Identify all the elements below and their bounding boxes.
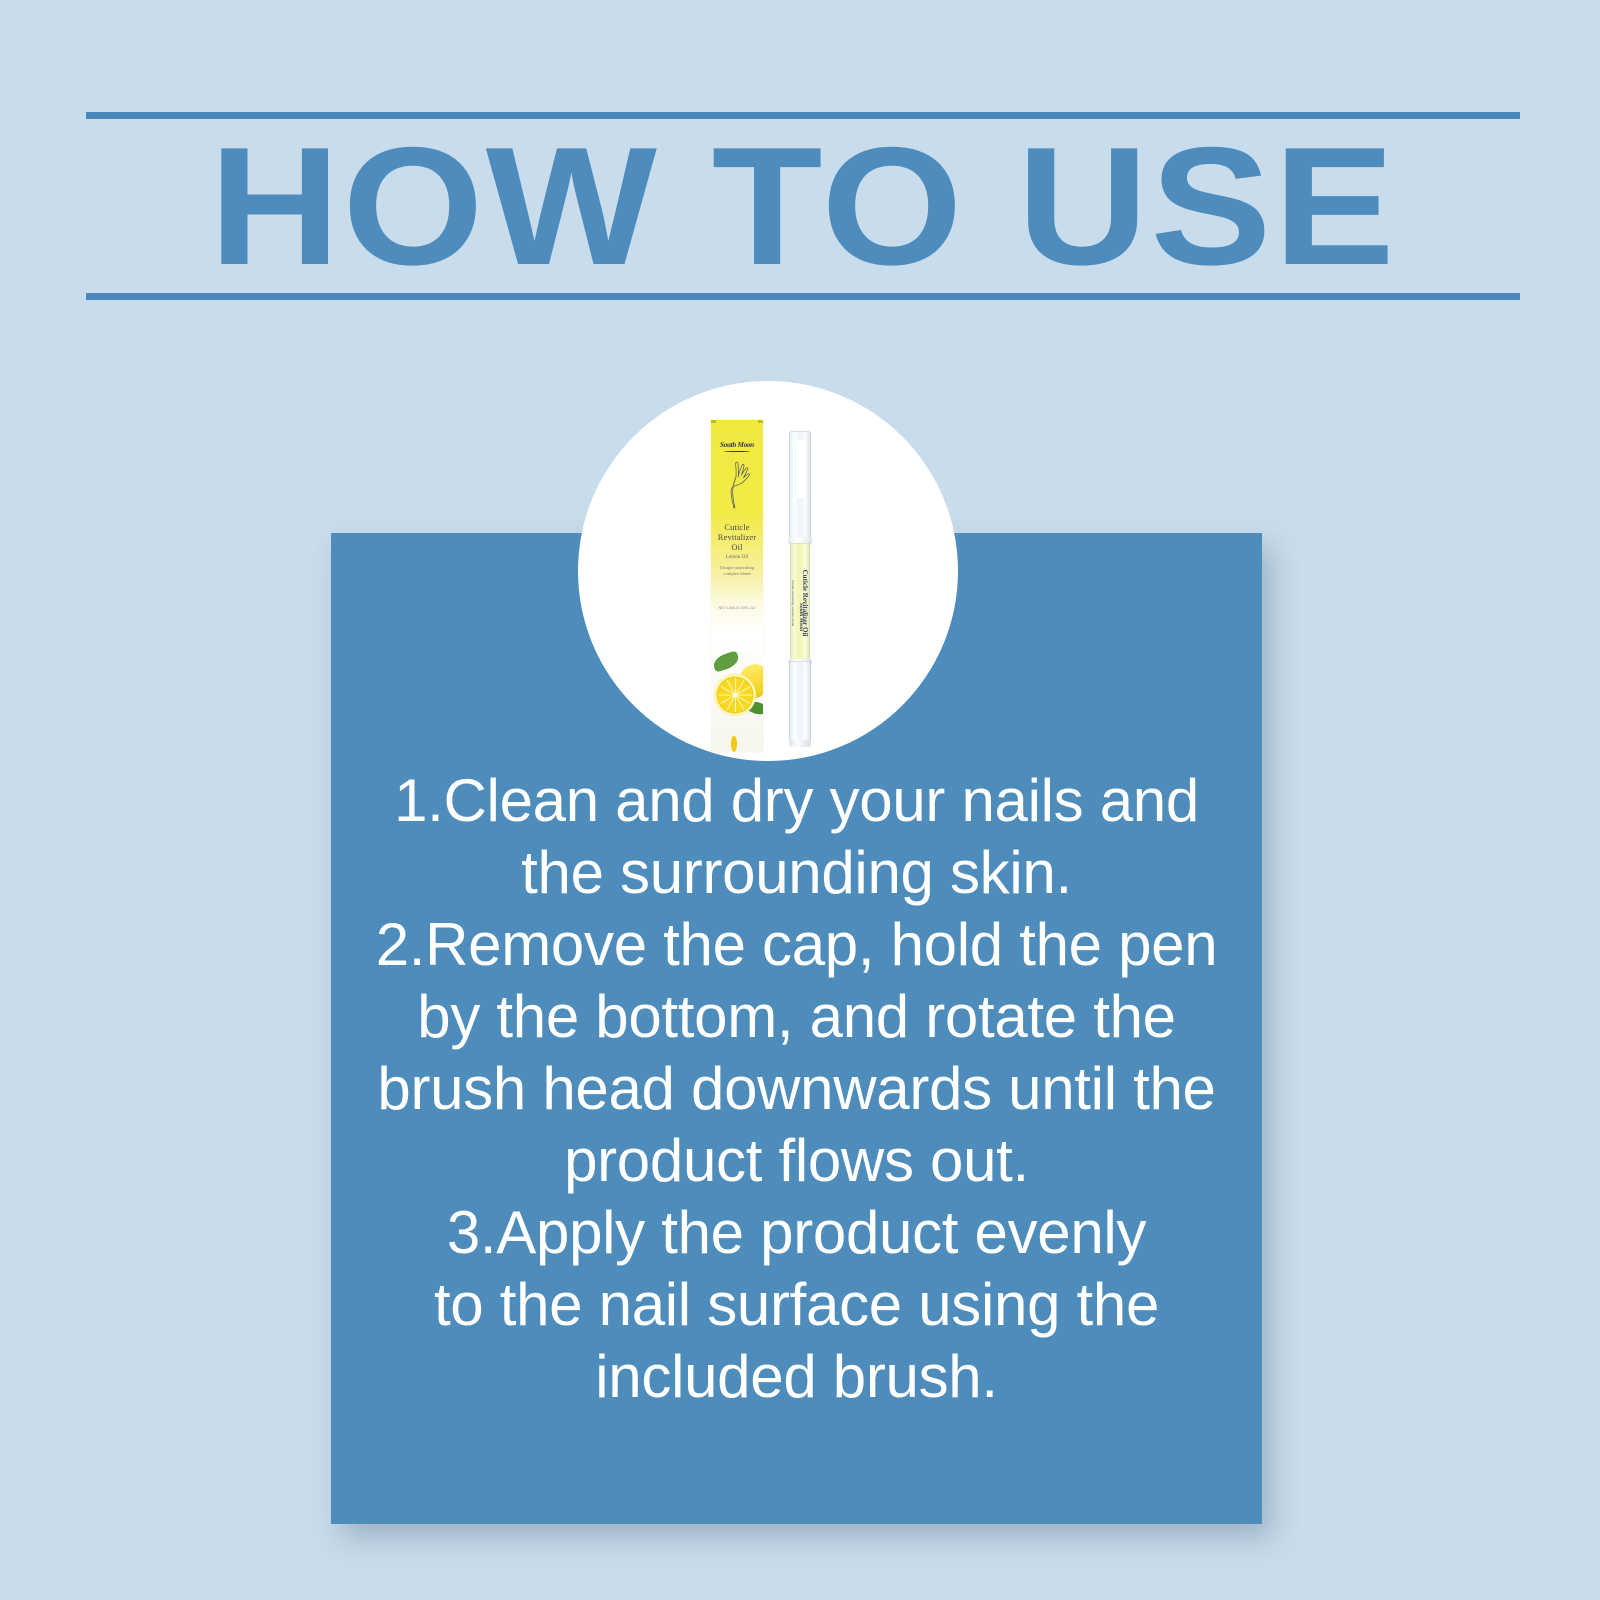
lemon-slice-icon — [714, 674, 756, 716]
page-title-block: HOW TO USE — [86, 112, 1520, 300]
carton-brand-logo: South Moon — [711, 441, 763, 449]
product-image-circle: South Moon Cuticle Revitalizer Oil Lemon… — [578, 381, 958, 761]
carton-corner-right-icon — [758, 420, 763, 423]
product-carton: South Moon Cuticle Revitalizer Oil Lemon… — [711, 420, 763, 752]
pen-cap-inner-brush — [797, 440, 805, 498]
carton-corner-left-icon — [711, 420, 716, 423]
hand-illustration-icon — [722, 458, 752, 510]
lemon-juice-drip-icon — [731, 736, 737, 752]
pen-base-foot — [789, 740, 811, 747]
page-title: HOW TO USE — [29, 118, 1578, 294]
instructions-text: 1.Clean and dry your nails and the surro… — [331, 765, 1262, 1413]
carton-variant: Lemon Oil — [711, 554, 763, 560]
lemon-core-icon — [733, 693, 737, 697]
carton-net-weight: NET:10ML/0.33FL.OZ — [711, 606, 763, 610]
product-photo: South Moon Cuticle Revitalizer Oil Lemon… — [578, 381, 958, 761]
pen-barrel: Unique nourishing complex blend Cuticle … — [790, 543, 810, 663]
product-pen-applicator: Unique nourishing complex blend Cuticle … — [785, 431, 815, 747]
pen-label-brand: South Moon — [795, 587, 807, 647]
pen-cap — [789, 431, 811, 543]
carton-logo-swash-icon — [724, 451, 750, 452]
carton-tagline: Unique nourishing complex blend — [711, 565, 763, 577]
pen-base — [789, 661, 811, 747]
lemon-leaf-icon — [711, 650, 740, 672]
title-rule-bottom — [86, 293, 1520, 300]
carton-product-name: Cuticle Revitalizer Oil — [711, 522, 763, 552]
lemon-photo — [711, 644, 763, 752]
